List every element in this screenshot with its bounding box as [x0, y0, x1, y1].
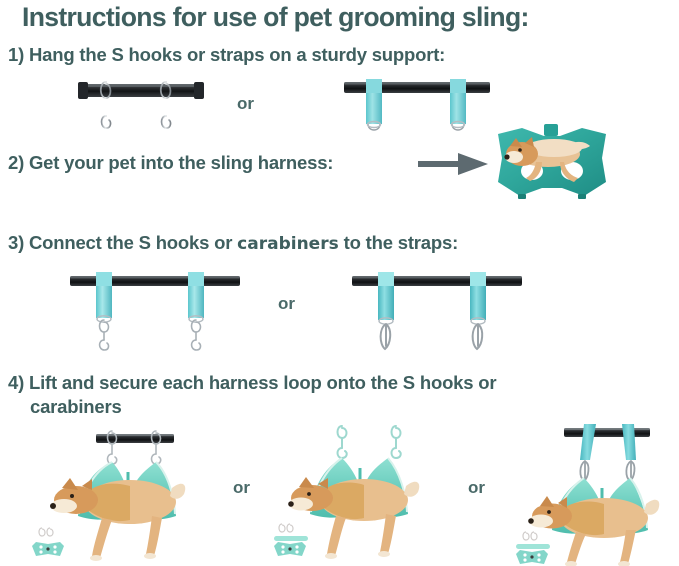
- step-4-or-label-2: or: [468, 478, 485, 498]
- step-1-text: 1) Hang the S hooks or straps on a sturd…: [8, 44, 445, 66]
- step-1-or-label: or: [237, 94, 254, 114]
- step-3-text-before: 3) Connect the S hooks or: [8, 232, 232, 253]
- step-4-text-line1: 4) Lift and secure each harness loop ont…: [8, 372, 496, 394]
- accessory-thumbnails: [516, 532, 550, 564]
- instruction-sheet: Instructions for use of pet grooming sli…: [0, 0, 679, 566]
- step-3-text-after: to the straps:: [344, 232, 458, 253]
- page-title: Instructions for use of pet grooming sli…: [22, 2, 662, 33]
- step-2-text: 2) Get your pet into the sling harness:: [8, 152, 333, 174]
- step-3-or-label: or: [278, 294, 295, 314]
- step-3-text-highlight: carabiners: [237, 234, 339, 254]
- illustration-straps-with-s-hooks: [70, 270, 245, 354]
- illustration-bar-with-s-hooks: [78, 76, 208, 136]
- illustration-dog-hanging-straps-s-hooks: [272, 424, 462, 564]
- illustration-straps-with-carabiners: [352, 270, 527, 354]
- illustration-dog-hanging-bar-s-hooks: [26, 424, 226, 564]
- illustration-dog-in-flat-sling: [492, 124, 612, 216]
- accessory-thumbnails: [274, 524, 308, 556]
- illustration-dog-hanging-bar-carabiners: [500, 420, 679, 566]
- accessory-thumbnails: [32, 528, 64, 556]
- illustration-bar-with-straps: [344, 76, 494, 138]
- arrow-right-icon: [418, 152, 490, 176]
- step-4-text-line2: carabiners: [30, 396, 122, 418]
- step-4-or-label-1: or: [233, 478, 250, 498]
- step-3-text: 3) Connect the S hooks or carabiners to …: [8, 232, 458, 254]
